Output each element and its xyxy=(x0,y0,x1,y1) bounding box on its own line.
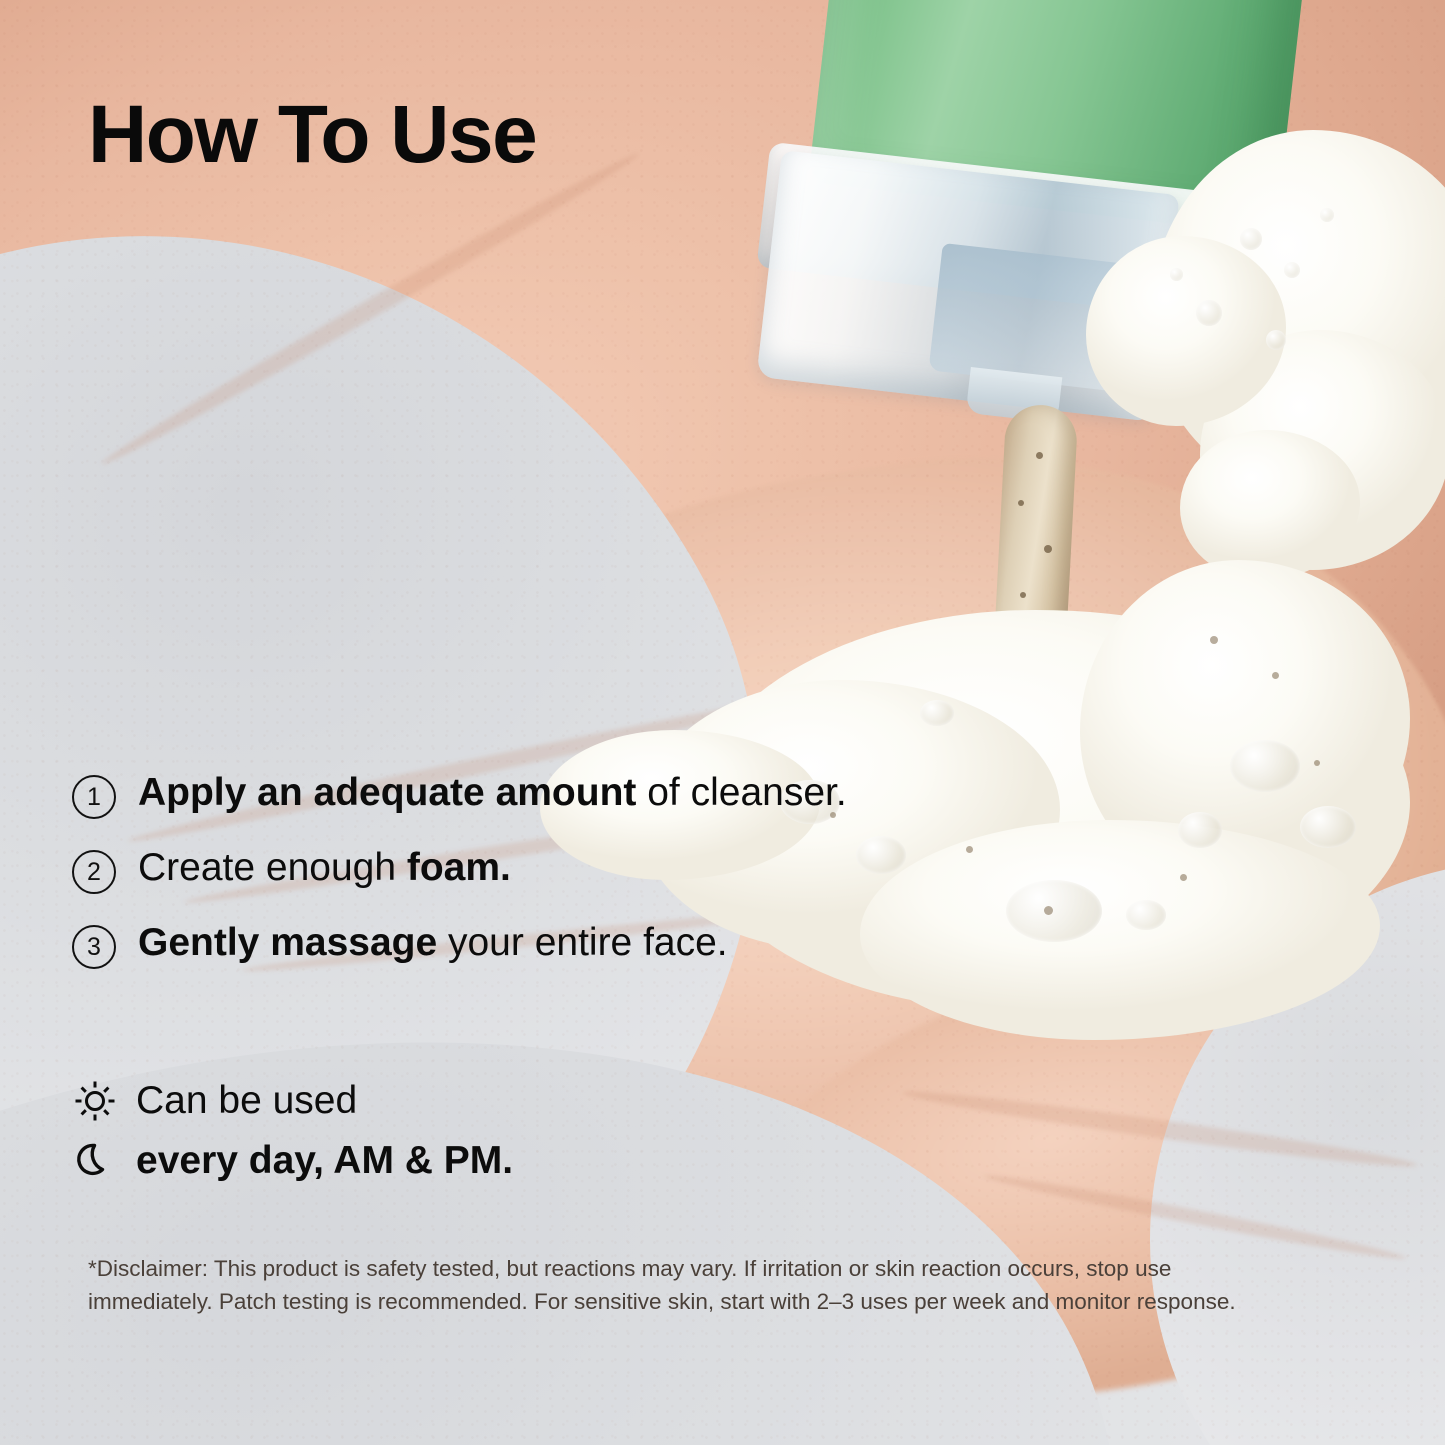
sun-icon xyxy=(72,1078,118,1124)
step-text: Gently massage your entire face. xyxy=(138,920,728,967)
page-title: How To Use xyxy=(88,94,536,176)
usage-text-bold: every day, AM & PM. xyxy=(136,1139,513,1182)
how-to-use-infographic: How To Use 1 Apply an adequate amount of… xyxy=(0,0,1445,1445)
step-number-circle: 1 xyxy=(72,775,116,819)
usage-text: every day, AM & PM. xyxy=(136,1140,513,1183)
list-item: every day, AM & PM. xyxy=(72,1138,513,1184)
usage-frequency: Can be used every day, AM & PM. xyxy=(72,1078,513,1184)
step-number-circle: 3 xyxy=(72,925,116,969)
step-text: Create enough foam. xyxy=(138,845,511,892)
disclaimer-text: *Disclaimer: This product is safety test… xyxy=(88,1252,1278,1319)
moon-icon xyxy=(72,1138,118,1184)
list-item: 2 Create enough foam. xyxy=(72,845,972,894)
step-text-bold: Apply an adequate amount xyxy=(138,771,636,814)
step-text-regular: Create enough xyxy=(138,846,407,889)
steps-list: 1 Apply an adequate amount of cleanser. … xyxy=(72,770,972,969)
list-item: Can be used xyxy=(72,1078,513,1124)
step-text-bold: foam. xyxy=(407,846,511,889)
step-text-regular: your entire face. xyxy=(437,921,727,964)
step-text-regular: of cleanser. xyxy=(636,771,846,814)
step-number-circle: 2 xyxy=(72,850,116,894)
list-item: 3 Gently massage your entire face. xyxy=(72,920,972,969)
step-text-bold: Gently massage xyxy=(138,921,437,964)
list-item: 1 Apply an adequate amount of cleanser. xyxy=(72,770,972,819)
text-overlay: How To Use 1 Apply an adequate amount of… xyxy=(0,0,1445,1445)
usage-text: Can be used xyxy=(136,1080,357,1123)
step-text: Apply an adequate amount of cleanser. xyxy=(138,770,847,817)
usage-text-regular: Can be used xyxy=(136,1079,357,1122)
